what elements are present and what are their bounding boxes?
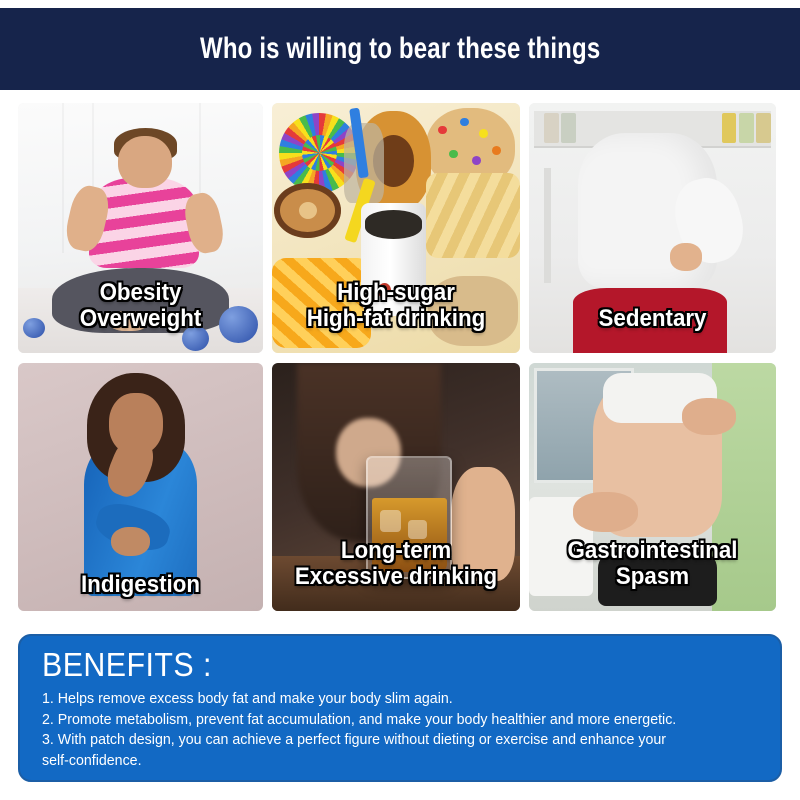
tile-obesity-overweight[interactable]: Obesity Overweight xyxy=(18,103,263,353)
page-title: Who is willing to bear these things xyxy=(200,32,600,66)
photo-gastrointestinal-spasm xyxy=(529,363,776,611)
benefit-item-2: 2. Promote metabolism, prevent fat accum… xyxy=(42,710,750,731)
product-infographic-page: Who is willing to bear these things xyxy=(0,0,800,800)
header-banner: Who is willing to bear these things xyxy=(0,8,800,90)
photo-sedentary-back-pain xyxy=(529,103,776,353)
photo-excessive-drinking xyxy=(272,363,520,611)
photo-obesity-overweight xyxy=(18,103,263,353)
benefit-item-3: 3. With patch design, you can achieve a … xyxy=(42,730,750,771)
tile-gastrointestinal-spasm[interactable]: Gastrointestinal Spasm xyxy=(529,363,776,611)
tile-sedentary[interactable]: Sedentary xyxy=(529,103,776,353)
photo-indigestion xyxy=(18,363,263,611)
benefit-item-1: 1. Helps remove excess body fat and make… xyxy=(42,689,750,710)
tile-indigestion[interactable]: Indigestion xyxy=(18,363,263,611)
tile-long-term-excessive-drinking[interactable]: Long-term Excessive drinking xyxy=(272,363,520,611)
risk-factor-grid: Obesity Overweight xyxy=(18,103,782,611)
benefits-panel: BENEFITS : 1. Helps remove excess body f… xyxy=(18,634,782,782)
benefits-list: 1. Helps remove excess body fat and make… xyxy=(42,689,764,771)
tile-high-sugar-high-fat-drinking[interactable]: High-sugar High-fat drinking xyxy=(272,103,520,353)
benefits-title: BENEFITS : xyxy=(42,648,706,681)
photo-junk-food xyxy=(272,103,520,353)
